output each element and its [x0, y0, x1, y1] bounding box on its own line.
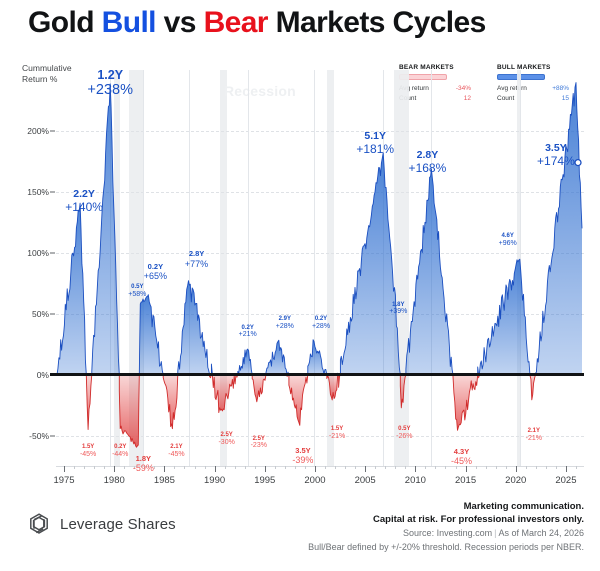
- x-axis-minor-tick: [104, 466, 105, 469]
- x-axis-minor-tick: [355, 466, 356, 469]
- x-axis-minor-tick: [435, 466, 436, 469]
- x-axis-minor-tick: [144, 466, 145, 469]
- bull-area: [92, 84, 120, 375]
- x-axis-minor-tick: [375, 466, 376, 469]
- x-axis-minor-tick: [526, 466, 527, 469]
- x-axis-minor-tick: [395, 466, 396, 469]
- page-title: Gold Bull vs Bear Markets Cycles: [28, 6, 486, 40]
- y-axis-label: 150%: [27, 187, 49, 197]
- bull-area: [406, 169, 453, 375]
- x-axis-minor-tick: [506, 466, 507, 469]
- title-word-bear: Bear: [204, 6, 268, 39]
- footer-asof: As of March 24, 2026: [498, 528, 584, 538]
- x-axis-minor-tick: [476, 466, 477, 469]
- y-axis-tick: [50, 313, 55, 314]
- x-axis-minor-tick: [425, 466, 426, 469]
- bull-area: [480, 259, 530, 374]
- x-axis-label: 1995: [254, 475, 275, 486]
- x-axis-label: 2015: [455, 475, 476, 486]
- y-axis-tick: [50, 130, 55, 131]
- x-axis-minor-tick: [94, 466, 95, 469]
- x-axis-label: 1990: [204, 475, 225, 486]
- title-word-bull: Bull: [102, 6, 156, 39]
- x-axis-minor-tick: [295, 466, 296, 469]
- x-axis-minor-tick: [74, 466, 75, 469]
- x-axis-minor-tick: [235, 466, 236, 469]
- x-axis-minor-tick: [486, 466, 487, 469]
- x-axis-minor-tick: [546, 466, 547, 469]
- x-axis-minor-tick: [405, 466, 406, 469]
- x-axis-label: 2020: [505, 475, 526, 486]
- x-axis-minor-tick: [445, 466, 446, 469]
- x-axis-minor-tick: [245, 466, 246, 469]
- x-axis-label: 1985: [154, 475, 175, 486]
- chart-page: Gold Bull vs Bear Markets Cycles Cummula…: [0, 0, 600, 571]
- x-axis-label: 2025: [555, 475, 576, 486]
- x-axis-tick: [365, 466, 366, 472]
- x-axis-minor-tick: [335, 466, 336, 469]
- current-value-marker: [575, 160, 581, 166]
- x-axis-minor-tick: [275, 466, 276, 469]
- y-axis-tick: [50, 435, 55, 436]
- leverage-shares-logo-icon: [27, 512, 51, 536]
- chart-canvas: Recession 200%150%100%50%0%-50% 19751980…: [56, 70, 584, 466]
- x-axis-minor-tick: [345, 466, 346, 469]
- y-axis-label: 0%: [37, 370, 49, 380]
- x-axis-tick: [215, 466, 216, 472]
- y-axis-tick: [50, 191, 55, 192]
- x-axis-minor-tick: [124, 466, 125, 469]
- x-axis-minor-tick: [576, 466, 577, 469]
- x-axis-minor-tick: [285, 466, 286, 469]
- x-axis-minor-tick: [174, 466, 175, 469]
- x-axis-label: 2005: [355, 475, 376, 486]
- x-axis-minor-tick: [205, 466, 206, 469]
- y-axis-label: 100%: [27, 248, 49, 258]
- x-axis-minor-tick: [385, 466, 386, 469]
- gold-cycles-series: [56, 70, 584, 466]
- x-axis-tick: [114, 466, 115, 472]
- brand-logo-wrap: Leverage Shares: [27, 512, 176, 536]
- chart-plot-area: Recession 200%150%100%50%0%-50% 19751980…: [56, 70, 584, 466]
- footer-source: Source: Investing.com: [403, 528, 492, 538]
- y-axis-label: 50%: [32, 309, 49, 319]
- bear-line: [339, 375, 341, 388]
- x-axis-tick: [516, 466, 517, 472]
- x-axis-tick: [315, 466, 316, 472]
- bull-area: [308, 340, 327, 375]
- bull-area: [340, 153, 400, 375]
- footer-disclaimer: Marketing communication. Capital at risk…: [373, 501, 584, 526]
- x-axis-minor-tick: [536, 466, 537, 469]
- x-axis-label: 1975: [53, 475, 74, 486]
- x-axis-tick: [415, 466, 416, 472]
- footer-source-row: Source: Investing.com|As of March 24, 20…: [403, 528, 584, 538]
- zero-baseline: [50, 373, 584, 375]
- x-axis-minor-tick: [184, 466, 185, 469]
- x-axis-tick: [64, 466, 65, 472]
- title-part-vs: vs: [156, 6, 204, 39]
- x-axis-minor-tick: [325, 466, 326, 469]
- brand-name: Leverage Shares: [60, 516, 176, 533]
- y-axis-tick: [50, 252, 55, 253]
- y-axis-label: -50%: [29, 431, 49, 441]
- y-axis-label: 200%: [27, 126, 49, 136]
- footer-line1: Marketing communication.: [373, 501, 584, 514]
- x-axis-minor-tick: [154, 466, 155, 469]
- footer-note: Bull/Bear defined by +/-20% threshold. R…: [308, 542, 584, 552]
- x-axis-minor-tick: [305, 466, 306, 469]
- x-axis-minor-tick: [255, 466, 256, 469]
- title-part-gold: Gold: [28, 6, 102, 39]
- x-axis-minor-tick: [134, 466, 135, 469]
- x-axis-tick: [566, 466, 567, 472]
- x-axis-tick: [265, 466, 266, 472]
- x-axis-tick: [164, 466, 165, 472]
- x-axis-minor-tick: [556, 466, 557, 469]
- x-axis-minor-tick: [195, 466, 196, 469]
- x-axis-label: 2010: [405, 475, 426, 486]
- x-axis-label: 2000: [304, 475, 325, 486]
- x-axis-minor-tick: [456, 466, 457, 469]
- x-axis-minor-tick: [496, 466, 497, 469]
- x-axis-label: 1980: [104, 475, 125, 486]
- x-axis-minor-tick: [225, 466, 226, 469]
- x-axis-minor-tick: [84, 466, 85, 469]
- x-axis-tick: [466, 466, 467, 472]
- title-part-markets-cycles: Markets Cycles: [268, 6, 486, 39]
- footer-line2: Capital at risk. For professional invest…: [373, 514, 584, 527]
